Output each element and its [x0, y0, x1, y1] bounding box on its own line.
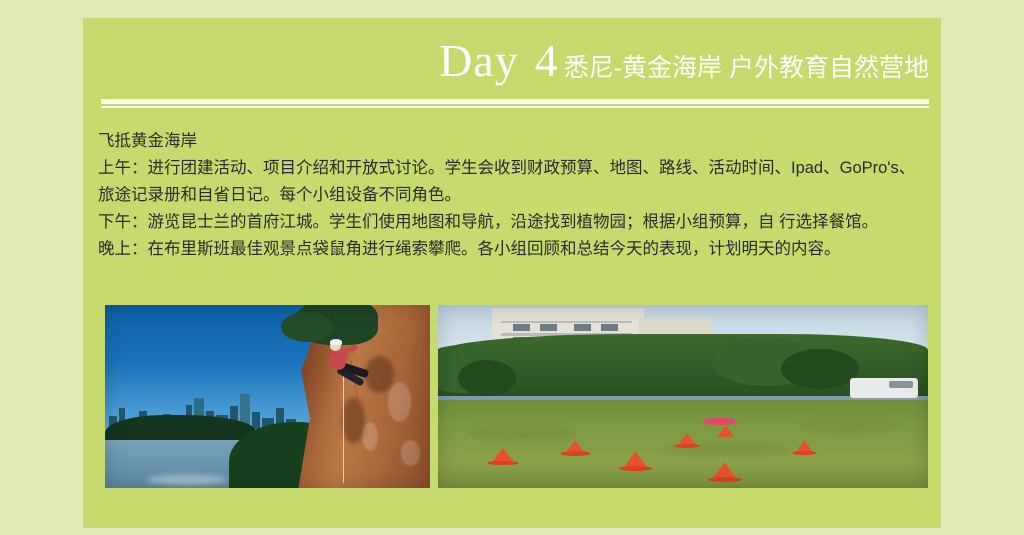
- rock-climbing-brisbane-photo: [105, 305, 430, 488]
- content-panel: Day 4 悉尼-黄金海岸 户外教育自然营地 飞抵黄金海岸 上午：进行团建活动、…: [83, 18, 941, 528]
- divider-thin-bar: [101, 106, 929, 108]
- day-label: Day: [439, 38, 519, 84]
- photo-vignette: [105, 305, 430, 488]
- itinerary-line-2: 旅途记录册和自省日记。每个小组设备不同角色。: [98, 182, 934, 209]
- itinerary-heading: 飞抵黄金海岸: [98, 128, 934, 155]
- divider-thick-bar: [101, 99, 929, 104]
- page-subtitle: 悉尼-黄金海岸 户外教育自然营地: [564, 56, 929, 81]
- outdoor-team-activity-photo: [438, 305, 928, 488]
- itinerary-line-1: 上午：进行团建活动、项目介绍和开放式讨论。学生会收到财政预算、地图、路线、活动时…: [98, 155, 934, 182]
- itinerary-text: 飞抵黄金海岸 上午：进行团建活动、项目介绍和开放式讨论。学生会收到财政预算、地图…: [98, 128, 934, 263]
- title-block: Day 4 悉尼-黄金海岸 户外教育自然营地: [439, 38, 929, 84]
- itinerary-line-4: 晚上：在布里斯班最佳观景点袋鼠角进行绳索攀爬。各小组回顾和总结今天的表现，计划明…: [98, 236, 934, 263]
- photo-vignette: [438, 305, 928, 488]
- day-number: 4: [535, 38, 558, 84]
- slide-canvas: Day 4 悉尼-黄金海岸 户外教育自然营地 飞抵黄金海岸 上午：进行团建活动、…: [0, 0, 1024, 535]
- slide-header: Day 4 悉尼-黄金海岸 户外教育自然营地: [83, 18, 941, 108]
- itinerary-line-3: 下午：游览昆士兰的首府江城。学生们使用地图和导航，沿途找到植物园；根据小组预算，…: [98, 209, 934, 236]
- photo-row: [105, 305, 927, 488]
- header-divider: [101, 99, 929, 110]
